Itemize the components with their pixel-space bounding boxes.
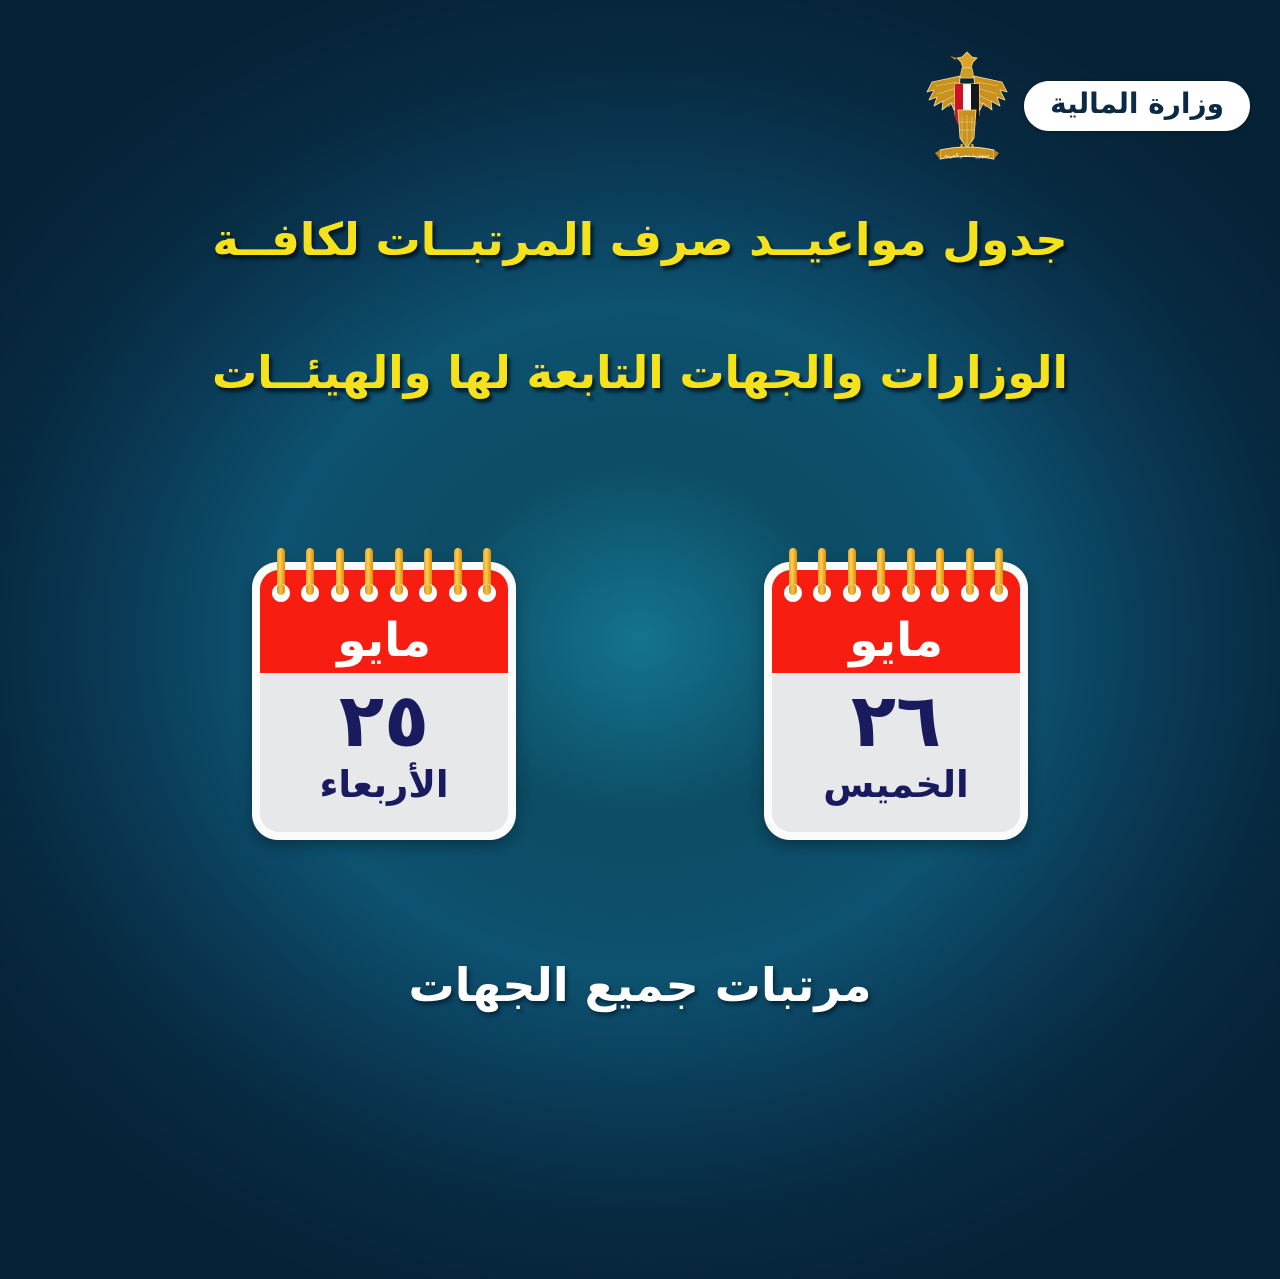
- calendar-day-name: الأربعاء: [319, 766, 448, 803]
- emblem-scroll-text: جمهورية مصر العربية: [944, 153, 990, 159]
- brand-header: وزارة المالية: [924, 46, 1250, 166]
- calendar-26-may: مايو ٢٦ الخميس: [764, 548, 1028, 840]
- poster-title: جدول مواعيــد صرف المرتبــات لكافــة الو…: [0, 216, 1280, 397]
- calendar-body: ٢٥ الأربعاء: [260, 673, 508, 832]
- calendar-month-header: مايو: [772, 570, 1020, 673]
- calendar-row: مايو ٢٦ الخميس: [0, 548, 1280, 848]
- calendar-day-number: ٢٥: [339, 684, 429, 758]
- calendar-inner: مايو ٢٥ الأربعاء: [260, 570, 508, 832]
- eagle-of-saladin-emblem: جمهورية مصر العربية: [924, 46, 1010, 166]
- title-line-2: الوزارات والجهات التابعة لها والهيئــات: [0, 349, 1280, 396]
- calendar-month-label: مايو: [849, 617, 943, 673]
- ministry-name-label: وزارة المالية: [1050, 90, 1224, 118]
- title-line-1: جدول مواعيــد صرف المرتبــات لكافــة: [0, 216, 1280, 263]
- calendar-frame: مايو ٢٥ الأربعاء: [252, 562, 516, 840]
- calendar-day-name: الخميس: [823, 766, 968, 803]
- calendar-inner: مايو ٢٦ الخميس: [772, 570, 1020, 832]
- calendar-month-header: مايو: [260, 570, 508, 673]
- calendar-frame: مايو ٢٦ الخميس: [764, 562, 1028, 840]
- ministry-name-pill: وزارة المالية: [1024, 81, 1250, 131]
- calendar-month-label: مايو: [337, 617, 431, 673]
- bottom-caption: مرتبات جميع الجهات: [0, 962, 1280, 1008]
- calendar-25-may: مايو ٢٥ الأربعاء: [252, 548, 516, 840]
- poster-canvas: وزارة المالية: [0, 0, 1280, 1279]
- calendar-body: ٢٦ الخميس: [772, 673, 1020, 832]
- calendar-day-number: ٢٦: [851, 684, 941, 758]
